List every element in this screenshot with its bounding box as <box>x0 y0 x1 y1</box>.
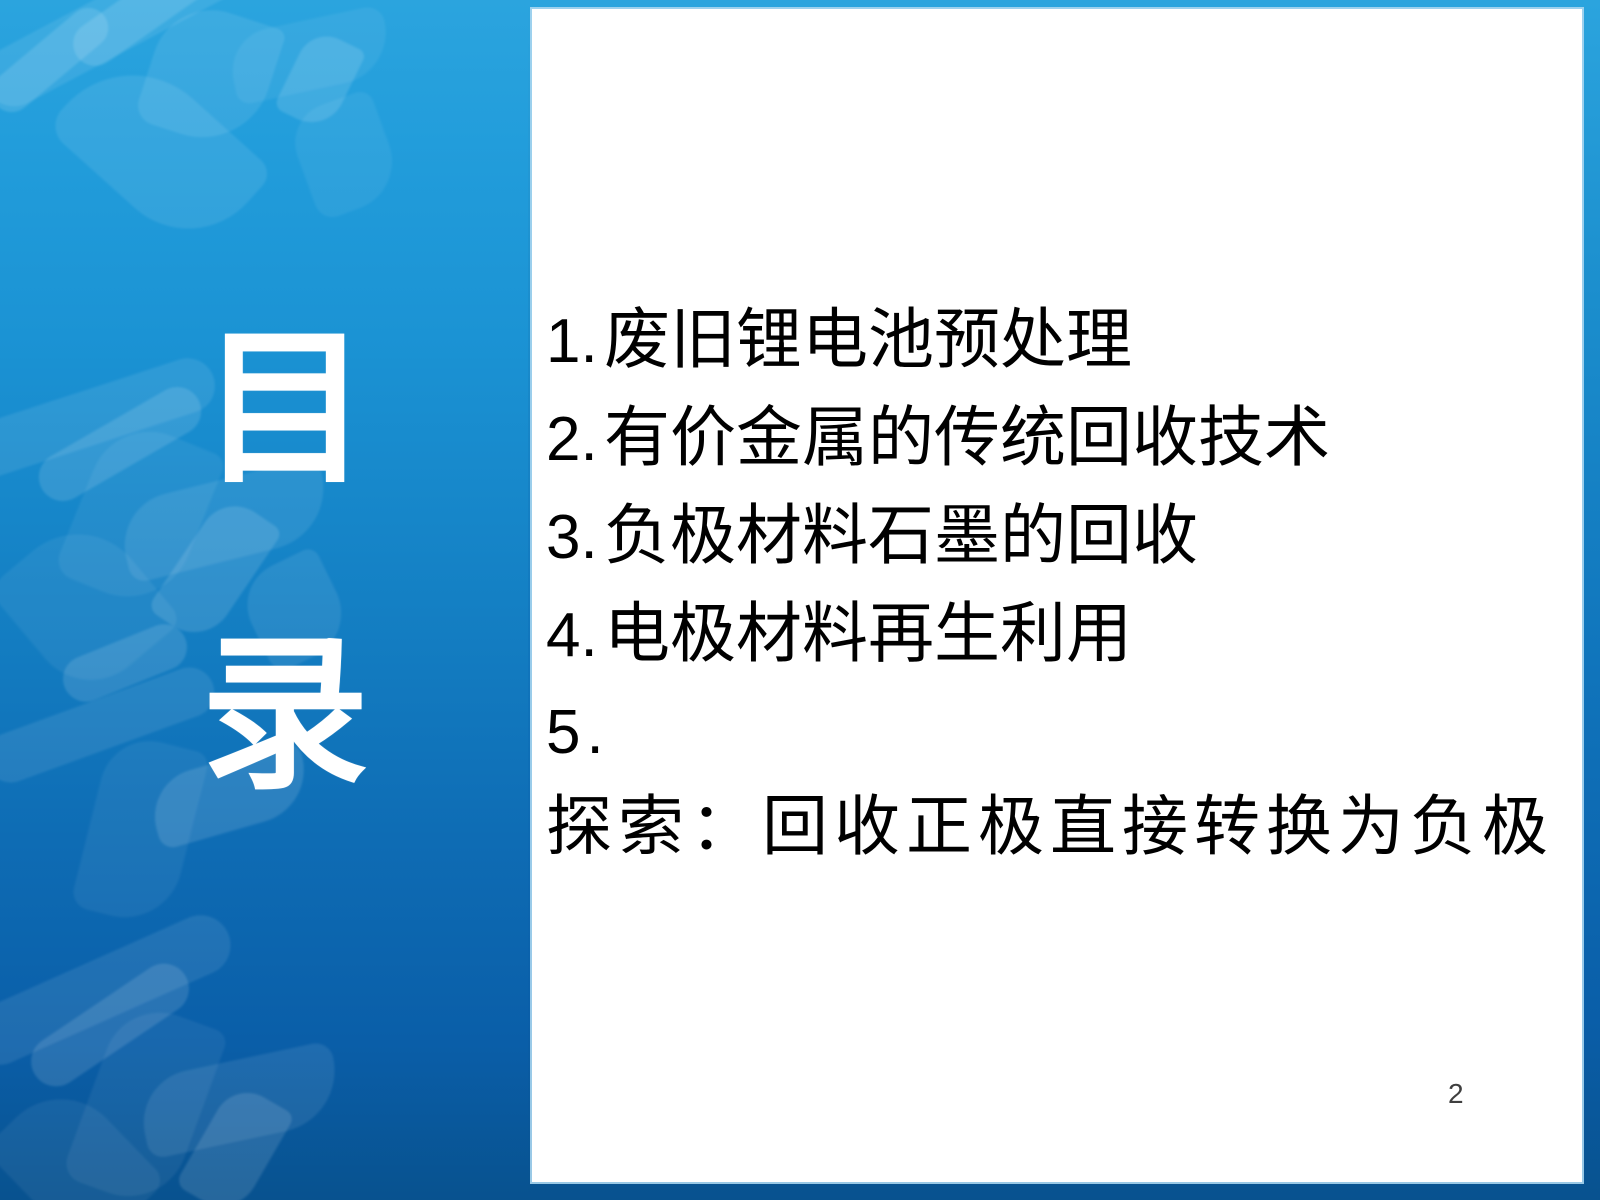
list-item-number: 4. <box>546 588 604 684</box>
page-number: 2 <box>1448 1080 1464 1108</box>
list-item[interactable]: 4. 电极材料再生利用 <box>546 586 1566 684</box>
sidebar: 目 录 <box>0 0 528 1200</box>
list-item-number: 5. <box>546 686 610 780</box>
sidebar-title-char-2: 录 <box>42 636 528 794</box>
toc-content: 1. 废旧锂电池预处理 2. 有价金属的传统回收技术 3. 负极材料石墨的回收 … <box>546 292 1566 874</box>
list-item[interactable]: 5.探索：回收正极直接转换为负极 <box>546 684 1566 874</box>
list-item[interactable]: 3. 负极材料石墨的回收 <box>546 488 1566 586</box>
list-item-label: 电极材料再生利用 <box>604 586 1132 682</box>
list-item-label: 探索：回收正极直接转换为负极 <box>546 780 1554 874</box>
list-item-label: 废旧锂电池预处理 <box>604 292 1132 388</box>
list-item[interactable]: 1. 废旧锂电池预处理 <box>546 292 1566 390</box>
list-item-number: 2. <box>546 392 604 488</box>
toc-list: 1. 废旧锂电池预处理 2. 有价金属的传统回收技术 3. 负极材料石墨的回收 … <box>546 292 1566 874</box>
list-item-label: 有价金属的传统回收技术 <box>604 390 1330 486</box>
list-item-number: 1. <box>546 294 604 390</box>
list-item-number: 3. <box>546 490 604 586</box>
sidebar-title-toc: 目 录 <box>0 330 528 794</box>
slide-canvas: 目 录 1. 废旧锂电池预处理 2. 有价金属的传统回收技术 3. 负极材料石墨… <box>0 0 1600 1200</box>
list-item-label: 负极材料石墨的回收 <box>604 488 1198 584</box>
list-item[interactable]: 2. 有价金属的传统回收技术 <box>546 390 1566 488</box>
sidebar-title-char-1: 目 <box>42 330 528 488</box>
